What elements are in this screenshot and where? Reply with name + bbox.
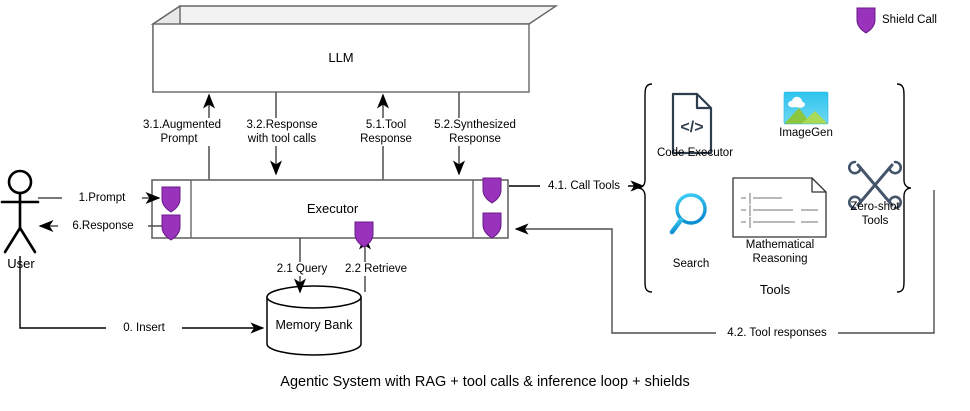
tool-label-imagegen: ImageGen [768,126,844,140]
shield-icon-legend [857,8,875,33]
edge-label-synthesized-line2: Response [428,132,522,146]
edge-label-augmented-prompt-line1: 3.1.Augmented [140,118,218,132]
svg-text:</>: </> [680,119,703,136]
edge-label-prompt: 1.Prompt [62,191,142,205]
tool-label-math-reasoning-line2: Reasoning [736,252,824,266]
edge-label-query: 2.1 Query [264,262,340,276]
tool-label-math-reasoning-line1: Mathematical [736,238,824,252]
executor-label: Executor [192,197,473,221]
tool-label-zeroshot-line2: Tools [838,214,912,228]
edge-label-response-tool-calls-line1: 3.2.Response [238,118,326,132]
diagram-caption: Agentic System with RAG + tool calls & i… [0,374,970,390]
edge-label-synthesized-line1: 5.2.Synthesized [428,118,522,132]
edge-label-tool-response-line1: 5.1.Tool [348,118,424,132]
user-actor [2,171,38,252]
edge-label-response: 6.Response [58,219,148,233]
tool-label-search: Search [660,257,722,271]
edge-label-tool-response-line2: Response [348,132,424,146]
edge-label-tool-responses: 4.2. Tool responses [716,326,838,340]
edge-insert [20,256,263,328]
tool-label-zeroshot-line1: Zero-shot [838,200,912,214]
legend-label-shield-call: Shield Call [882,13,962,27]
code-document-icon: </> [673,94,711,153]
tools-group-label: Tools [730,281,820,299]
image-picture-icon [784,92,828,124]
shield-icon-executor-center-bottom [355,222,373,247]
math-document-icon [733,178,826,237]
user-label: User [0,255,42,273]
magnifier-icon [672,195,705,232]
llm-label: LLM [153,46,529,70]
edge-label-call-tools: 4.1. Call Tools [540,179,628,193]
edge-label-retrieve: 2.2 Retrieve [334,262,418,276]
edge-label-augmented-prompt-line2: Prompt [140,132,218,146]
edge-label-response-tool-calls-line2: with tool calls [238,132,326,146]
edge-label-insert: 0. Insert [106,321,182,335]
memory-bank-label: Memory Bank [267,316,361,334]
diagram-canvas: </> [0,0,970,411]
tool-label-code-executor: Code Executor [652,146,738,160]
